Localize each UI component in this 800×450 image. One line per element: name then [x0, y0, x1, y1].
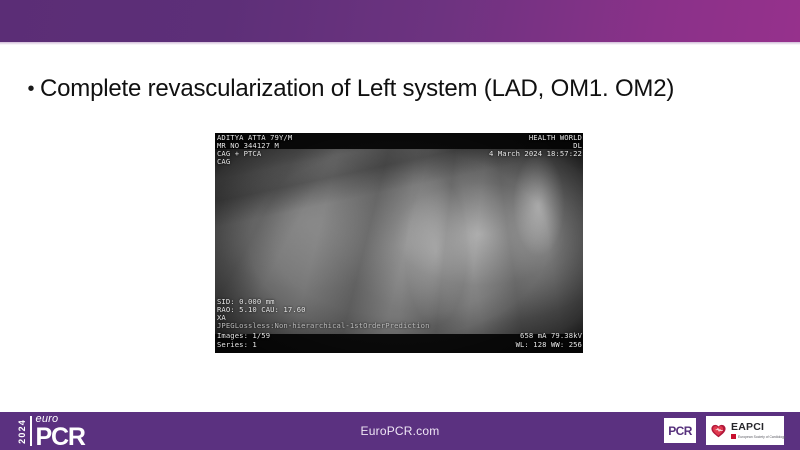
overlay-image-index: Images: 1/59: [217, 332, 270, 340]
header-band-shadow: [0, 42, 800, 45]
slide: • Complete revascularization of Left sys…: [0, 0, 800, 450]
bullet-text: Complete revascularization of Left syste…: [40, 74, 674, 104]
overlay-study: CAG: [217, 158, 230, 166]
partner-eapci-subtitle: European Society of Cardiology: [738, 435, 786, 439]
bullet-marker: •: [22, 74, 40, 104]
overlay-transfer-syntax: JPEGLossless:Non-hierarchical-1stOrderPr…: [217, 322, 430, 330]
partner-pcr-label: PCR: [668, 424, 692, 438]
overlay-series-index: Series: 1: [217, 341, 257, 349]
footer-website-label: EuroPCR.com: [361, 424, 440, 438]
overlay-window-level: WL: 128 WW: 256: [516, 341, 582, 349]
partner-eapci-logo: EAPCI European Society of Cardiology: [706, 416, 784, 445]
bullet-row: • Complete revascularization of Left sys…: [22, 74, 778, 108]
angiogram-image: ADITYA ATTA 79Y/M MR NO 344127 M CAG + P…: [215, 133, 583, 353]
heart-icon: [710, 422, 727, 439]
overlay-exposure: 658 mA 79.38kV: [520, 332, 582, 340]
overlay-angles: RAO: 5.10 CAU: 17.60: [217, 306, 306, 314]
esc-mark-icon: [731, 434, 736, 439]
header-band: [0, 0, 800, 42]
partner-pcr-logo: PCR: [664, 418, 696, 443]
partner-eapci-name: EAPCI: [731, 422, 786, 433]
overlay-datetime: 4 March 2024 18:57:22: [489, 150, 582, 158]
